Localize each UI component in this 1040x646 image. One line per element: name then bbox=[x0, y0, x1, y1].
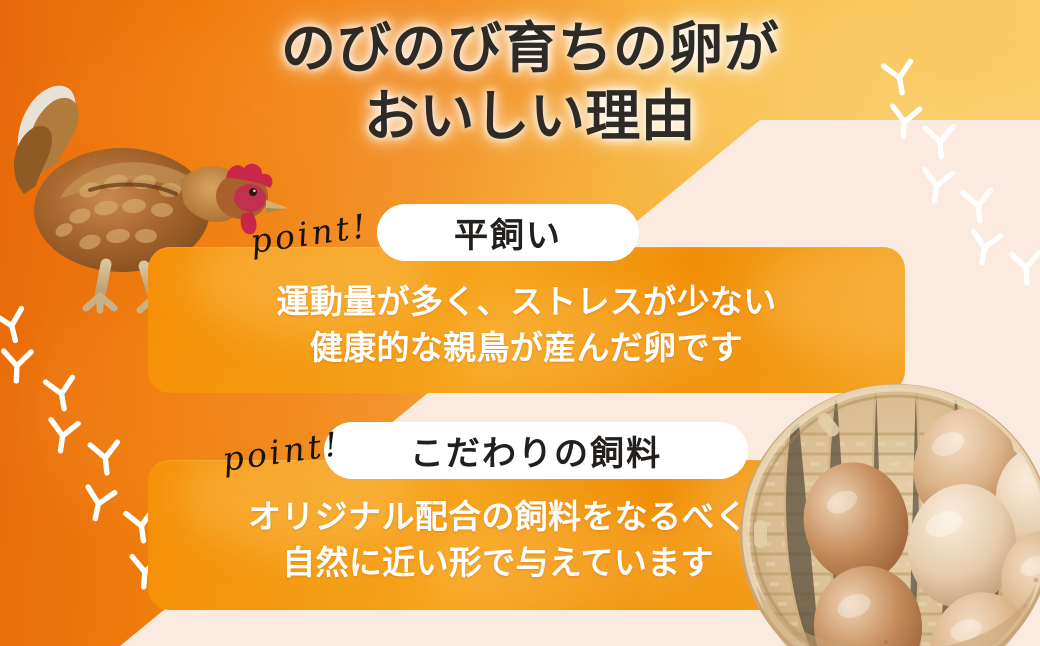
point-card-1: 運動量が多く、ストレスが少ない 健康的な親鳥が産んだ卵です bbox=[148, 247, 905, 393]
point-card-1-body: 運動量が多く、ストレスが少ない 健康的な親鳥が産んだ卵です bbox=[148, 281, 905, 369]
point-2-heading: こだわりの飼料 bbox=[410, 426, 662, 475]
point-1-body-line-1: 運動量が多く、ストレスが少ない bbox=[148, 281, 905, 323]
point-1-heading: 平飼い bbox=[454, 208, 562, 257]
title-line-2: おいしい理由 bbox=[150, 86, 910, 148]
point-card-2-heading-pill: こだわりの飼料 bbox=[324, 422, 748, 479]
point-1-body-line-2: 健康的な親鳥が産んだ卵です bbox=[148, 327, 905, 369]
eggs-basket-image bbox=[736, 374, 1040, 646]
banner-title: のびのび育ちの卵が おいしい理由 bbox=[150, 18, 910, 147]
promo-banner: のびのび育ちの卵が おいしい理由 運動量が多く、ストレスが少ない 健康的な親鳥が… bbox=[0, 0, 1040, 646]
point-card-1-heading-pill: 平飼い bbox=[377, 204, 639, 261]
title-line-1: のびのび育ちの卵が bbox=[150, 18, 910, 80]
